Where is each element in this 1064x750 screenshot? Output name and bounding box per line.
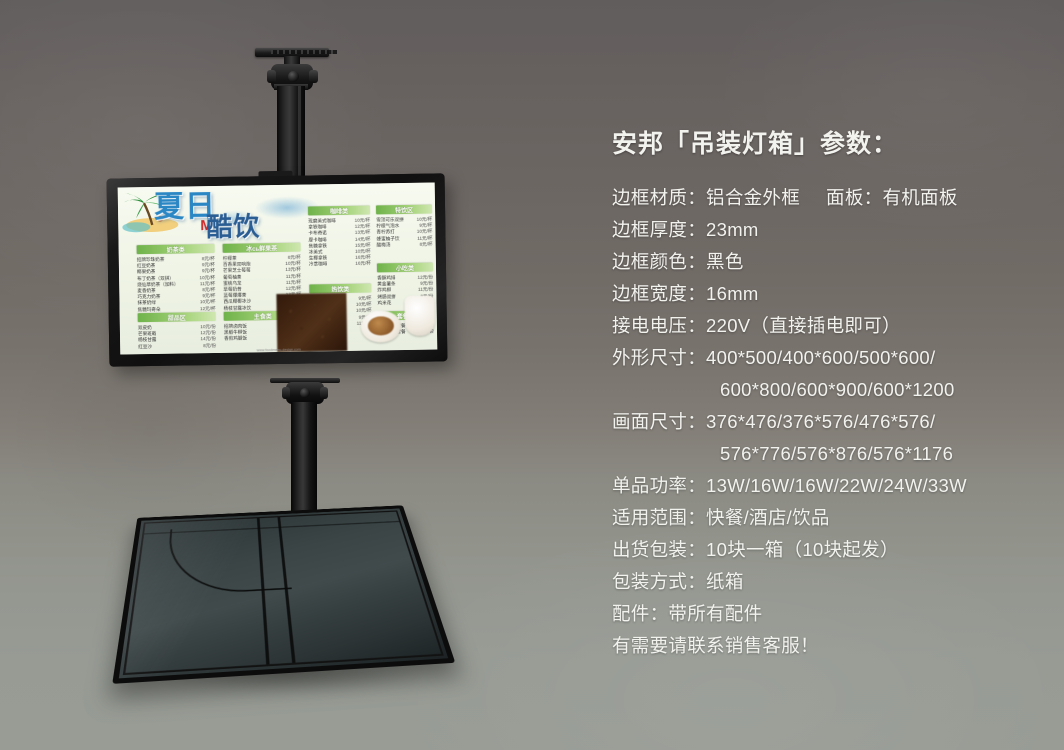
spec-value-1: 23mm xyxy=(706,219,759,240)
spec-value-7: 376*476/376*576/476*576/ xyxy=(706,411,935,432)
coffee-cup-front xyxy=(361,310,401,343)
spec-line-12: 包装方式：纸箱 xyxy=(612,566,1052,598)
spec-line-5: 外形尺寸：400*500/400*600/500*600/ xyxy=(612,342,1052,374)
knuckle-side-left xyxy=(267,70,276,83)
spec-line-2: 边框颜色：黑色 xyxy=(612,246,1052,278)
spec-value-3: 16mm xyxy=(706,283,759,304)
panel-body xyxy=(112,505,455,684)
spec-line-9: 单品功率：13W/16W/16W/22W/24W/33W xyxy=(612,470,1052,502)
menu-section-heading-5: 小吃类 xyxy=(377,263,433,273)
lower-knuckle-bolt xyxy=(300,388,310,398)
menu-item-name: 香煎鸡腿饭 xyxy=(224,336,247,343)
spec-line-13: 配件：带所有配件 xyxy=(612,598,1052,630)
panel-back-surface xyxy=(123,510,444,675)
menu-item: 冷萃咖啡16元/杯 xyxy=(309,261,371,268)
spec-line-7: 画面尺寸：376*476/376*576/476*576/ xyxy=(612,406,1052,438)
spec-label-0: 边框材质： xyxy=(612,187,706,208)
product-spec-image: 夏日 M 酷饮 奶茶类招牌珍珠奶茶8元/杯红豆奶茶9元/杯椰果奶茶9元/杯布丁奶… xyxy=(0,0,1064,750)
menu-section-rows-0: 招牌珍珠奶茶8元/杯红豆奶茶9元/杯椰果奶茶9元/杯布丁奶茶（双拼）10元/杯烧… xyxy=(137,256,216,313)
knuckle-side-right xyxy=(309,70,318,83)
spec-value-8: 576*776/576*876/576*1176 xyxy=(720,443,953,464)
menu-section-rows-2: 现磨美式咖啡10元/杯拿铁咖啡12元/杯卡布奇诺13元/杯摩卡咖啡14元/杯焦糖… xyxy=(308,218,371,269)
spec-line-6: 600*800/600*900/600*1200 xyxy=(612,374,1052,406)
spec-label-7: 画面尺寸： xyxy=(612,411,706,432)
coffee-cup-back xyxy=(404,296,435,336)
lightbox-aluminum-frame: 夏日 M 酷饮 奶茶类招牌珍珠奶茶8元/杯红豆奶茶9元/杯椰果奶茶9元/杯布丁奶… xyxy=(107,173,448,366)
spec-value2-0: 有机面板 xyxy=(882,187,957,208)
menu-section-3: 特饮区雪顶可乐双拼10元/杯柠檬气泡水9元/杯青柠苏打10元/杯蜂蜜柚子饮11元… xyxy=(376,205,433,249)
coffee-crema xyxy=(368,317,394,336)
spec-line-14: 有需要请联系销售客服！ xyxy=(612,630,1052,662)
menu-section-6: 甜品区双皮奶10元/份芒果班戟12元/份杨枝甘露14元/份红豆沙8元/份 xyxy=(138,312,217,350)
spec-value-5: 400*500/400*600/500*600/ xyxy=(706,347,935,368)
lower-knuckle-side-left xyxy=(282,387,290,399)
menu-section-rows-3: 雪顶可乐双拼10元/杯柠檬气泡水9元/杯青柠苏打10元/杯蜂蜜柚子饮11元/杯酸… xyxy=(376,217,432,249)
spec-line-0: 边框材质：铝合金外框面板：有机面板 xyxy=(612,182,1052,214)
menu-item-name: 酸梅汤 xyxy=(377,242,391,248)
menu-item-name: 红豆沙 xyxy=(138,344,152,350)
spec-line-1: 边框厚度：23mm xyxy=(612,214,1052,246)
spec-value-13: 带所有配件 xyxy=(668,603,762,624)
menu-title-line2: 酷饮 xyxy=(206,213,260,240)
spec-line-10: 适用范围：快餐/酒店/饮品 xyxy=(612,502,1052,534)
menu-item-price: 16元/杯 xyxy=(351,261,371,268)
spec-label-10: 适用范围： xyxy=(612,507,706,528)
ceiling-plate-holes xyxy=(271,50,337,54)
spec-label-4: 接电电压： xyxy=(612,315,706,336)
menu-item: 红豆沙8元/份 xyxy=(138,343,216,350)
spec-value-10: 快餐/酒店/饮品 xyxy=(706,507,830,528)
coffee-photo xyxy=(276,289,437,352)
ceiling-mount-bracket xyxy=(243,48,343,188)
spec-label-13: 配件： xyxy=(612,603,668,624)
spec-label-12: 包装方式： xyxy=(612,571,706,592)
spec-value-4: 220V（直接插电即可） xyxy=(706,315,901,336)
menu-item-name: 冷萃咖啡 xyxy=(309,262,327,268)
spec-value-0: 铝合金外框 xyxy=(706,187,800,208)
menu-section-rows-6: 双皮奶10元/份芒果班戟12元/份杨枝甘露14元/份红豆沙8元/份 xyxy=(138,324,216,350)
menu-section-2: 咖啡类现磨美式咖啡10元/杯拿铁咖啡12元/杯卡布奇诺13元/杯摩卡咖啡14元/… xyxy=(308,206,371,269)
spec-value-11: 10块一箱（10块起发） xyxy=(706,539,899,560)
spec-line-4: 接电电压：220V（直接插电即可） xyxy=(612,310,1052,342)
spec-label-9: 单品功率： xyxy=(612,475,706,496)
hanging-light-box: 夏日 M 酷饮 奶茶类招牌珍珠奶茶8元/杯红豆奶茶9元/杯椰果奶茶9元/杯布丁奶… xyxy=(107,173,448,366)
spec-label-11: 出货包装： xyxy=(612,539,706,560)
menu-poster-title: 夏日 M 酷饮 xyxy=(154,190,325,245)
spec-line-3: 边框宽度：16mm xyxy=(612,278,1052,310)
spec-value-2: 黑色 xyxy=(706,251,744,272)
spec-label-5: 外形尺寸： xyxy=(612,347,706,368)
coffee-beans xyxy=(276,293,347,352)
specification-panel: 安邦「吊装灯箱」参数： 边框材质：铝合金外框面板：有机面板边框厚度：23mm边框… xyxy=(612,124,1052,662)
menu-item-price: 8元/份 xyxy=(199,343,216,349)
menu-item-price: 8元/杯 xyxy=(416,241,433,247)
lower-knuckle-side-right xyxy=(320,387,328,399)
spec-line-11: 出货包装：10块一箱（10块起发） xyxy=(612,534,1052,566)
second-light-box-rear xyxy=(128,478,428,686)
spec-title: 安邦「吊装灯箱」参数： xyxy=(612,124,1052,160)
knuckle-bolt xyxy=(288,71,299,82)
support-pole-upper-edge xyxy=(298,86,301,190)
menu-section-heading-0: 奶茶类 xyxy=(137,244,215,254)
menu-section-heading-3: 特饮区 xyxy=(376,205,432,215)
poster-watermark: www.foodmenu-design.com xyxy=(257,348,301,353)
spec-value-6: 600*800/600*900/600*1200 xyxy=(720,379,955,400)
menu-section-heading-2: 咖啡类 xyxy=(308,206,370,216)
menu-item: 酸梅汤8元/杯 xyxy=(377,241,433,248)
spec-label-2: 边框颜色： xyxy=(612,251,706,272)
spec-label-1: 边框厚度： xyxy=(612,219,706,240)
lightbox-acrylic-panel: 夏日 M 酷饮 奶茶类招牌珍珠奶茶8元/杯红豆奶茶9元/杯椰果奶茶9元/杯布丁奶… xyxy=(118,183,438,355)
menu-section-heading-6: 甜品区 xyxy=(138,312,216,322)
menu-poster: 夏日 M 酷饮 奶茶类招牌珍珠奶茶8元/杯红豆奶茶9元/杯椰果奶茶9元/杯布丁奶… xyxy=(118,183,438,355)
spec-label2-0: 面板： xyxy=(826,187,882,208)
spec-value-14: 有需要请联系销售客服！ xyxy=(612,635,819,656)
spec-value-12: 纸箱 xyxy=(706,571,744,592)
spec-line-8: 576*776/576*876/576*1176 xyxy=(612,438,1052,470)
spec-lines-container: 边框材质：铝合金外框面板：有机面板边框厚度：23mm边框颜色：黑色边框宽度：16… xyxy=(612,182,1052,662)
spec-label-3: 边框宽度： xyxy=(612,283,706,304)
spec-value-9: 13W/16W/16W/22W/24W/33W xyxy=(706,475,967,496)
power-cable xyxy=(165,524,292,595)
menu-section-heading-1: 冰сь鲜果茶 xyxy=(223,243,301,253)
menu-section-0: 奶茶类招牌珍珠奶茶8元/杯红豆奶茶9元/杯椰果奶茶9元/杯布丁奶茶（双拼）10元… xyxy=(137,244,216,313)
